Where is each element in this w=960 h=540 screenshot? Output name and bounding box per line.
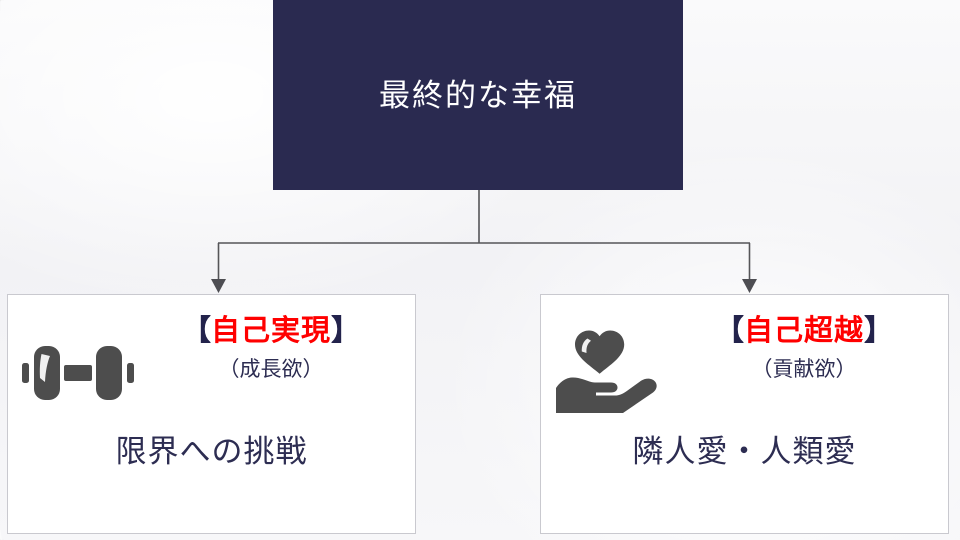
arrowhead-right [742,279,757,293]
branch-body-text: 限界への挑戦 [8,433,415,470]
slide-canvas: 最終的な幸福 【自己実現】 （成長欲） 限界への挑戦 [0,0,960,540]
branch-subheading: （貢献欲） [669,357,939,382]
heading-close-bracket: 】 [331,315,360,347]
branch-heading: 【自己超越】 [669,315,939,348]
heading-keyword: 自己超越 [744,315,864,347]
heading-close-bracket: 】 [864,315,893,347]
branch-subheading: （成長欲） [136,357,406,382]
top-node-final-happiness[interactable]: 最終的な幸福 [273,0,683,190]
heading-open-bracket: 【 [715,315,744,347]
heading-keyword: 自己実現 [211,315,331,347]
arrowhead-left [211,279,226,293]
heading-open-bracket: 【 [182,315,211,347]
hand-holding-heart-icon [551,317,663,421]
branch-body-text: 隣人愛・人類愛 [541,433,948,470]
branch-heading: 【自己実現】 [136,315,406,348]
dumbbell-icon [20,329,136,417]
top-node-label: 最終的な幸福 [379,80,577,111]
branch-box-self-actualization[interactable]: 【自己実現】 （成長欲） 限界への挑戦 [7,294,416,534]
branch-box-self-transcendence[interactable]: 【自己超越】 （貢献欲） 隣人愛・人類愛 [540,294,949,534]
